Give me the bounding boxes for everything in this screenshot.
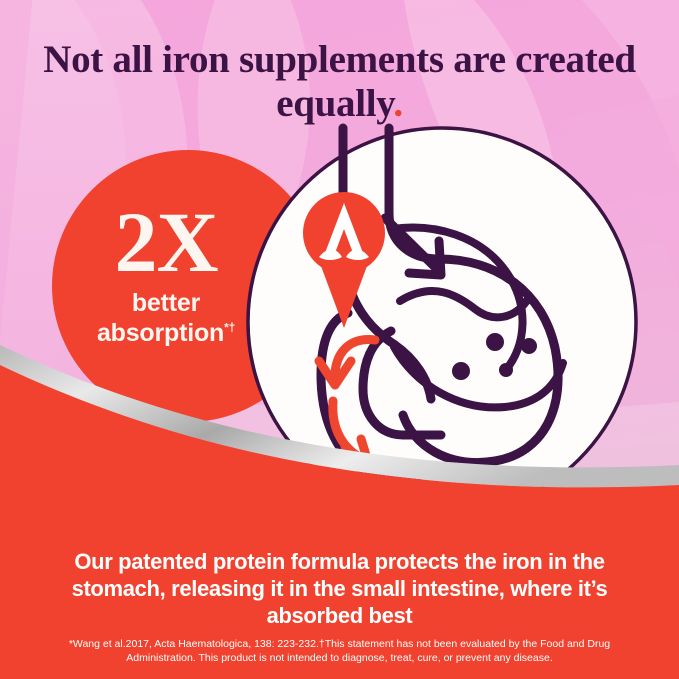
headline-period: .	[393, 82, 402, 125]
headline-line-2: equally	[276, 82, 393, 125]
bottom-copy: Our patented protein formula protects th…	[0, 548, 679, 629]
promotional-poster: Not all iron supplements are created equ…	[0, 0, 679, 679]
headline-line-1: Not all iron supplements are created	[43, 38, 636, 81]
badge-footnote-marker: *†	[224, 321, 235, 335]
legal-fineprint: *Wang et al.2017, Acta Haematologica, 13…	[0, 637, 679, 665]
page-title: Not all iron supplements are created equ…	[0, 38, 679, 126]
red-wave-body	[0, 365, 679, 679]
